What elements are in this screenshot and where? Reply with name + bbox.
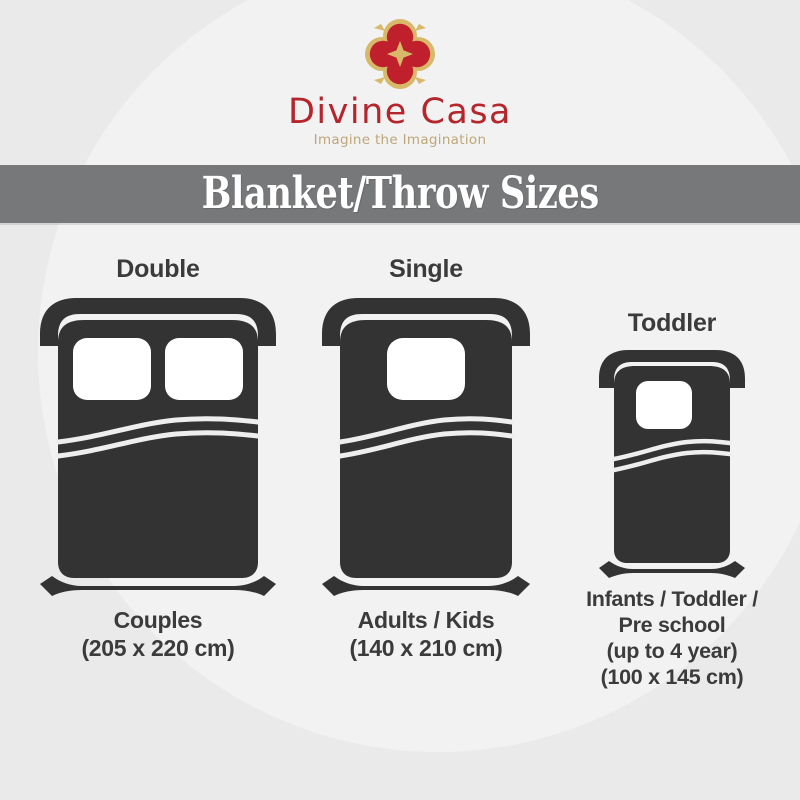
brand-tagline: Imagine the Imagination [0, 132, 800, 148]
caption-line: Adults / Kids [296, 606, 556, 634]
bed-title-single: Single [296, 256, 556, 284]
page-title: Blanket/Throw Sizes [201, 172, 598, 216]
bed-single-icon [310, 290, 542, 600]
bed-title-toddler: Toddler [552, 310, 792, 338]
quatrefoil-flower-icon [352, 18, 448, 92]
caption-line: (up to 4 year) [552, 638, 792, 664]
bed-card-toddler: Toddler Infants / Toddler / Pre school (… [552, 310, 792, 690]
bed-caption-double: Couples (205 x 220 cm) [18, 606, 298, 662]
caption-line: (140 x 210 cm) [296, 634, 556, 662]
bed-card-single: Single Adults / Kids (140 x 210 cm) [296, 256, 556, 662]
bed-double-icon [26, 290, 290, 600]
caption-line: (205 x 220 cm) [18, 634, 298, 662]
bed-caption-single: Adults / Kids (140 x 210 cm) [296, 606, 556, 662]
bed-caption-toddler: Infants / Toddler / Pre school (up to 4 … [552, 586, 792, 691]
bed-title-double: Double [18, 256, 298, 284]
title-banner: Blanket/Throw Sizes [0, 165, 800, 223]
brand-logo: Divine Casa Imagine the Imagination [0, 18, 800, 148]
caption-line: (100 x 145 cm) [552, 664, 792, 690]
bed-card-double: Double Couples (205 x 220 cm) [18, 256, 298, 662]
blanket-size-infographic: Divine Casa Imagine the Imagination Blan… [0, 0, 800, 800]
caption-line: Infants / Toddler / [552, 586, 792, 612]
caption-line: Pre school [552, 612, 792, 638]
caption-line: Couples [18, 606, 298, 634]
brand-name: Divine Casa [0, 94, 800, 131]
bed-sizes-row: Double Couples (205 x 220 cm) [0, 240, 800, 800]
bed-toddler-icon [589, 344, 755, 580]
